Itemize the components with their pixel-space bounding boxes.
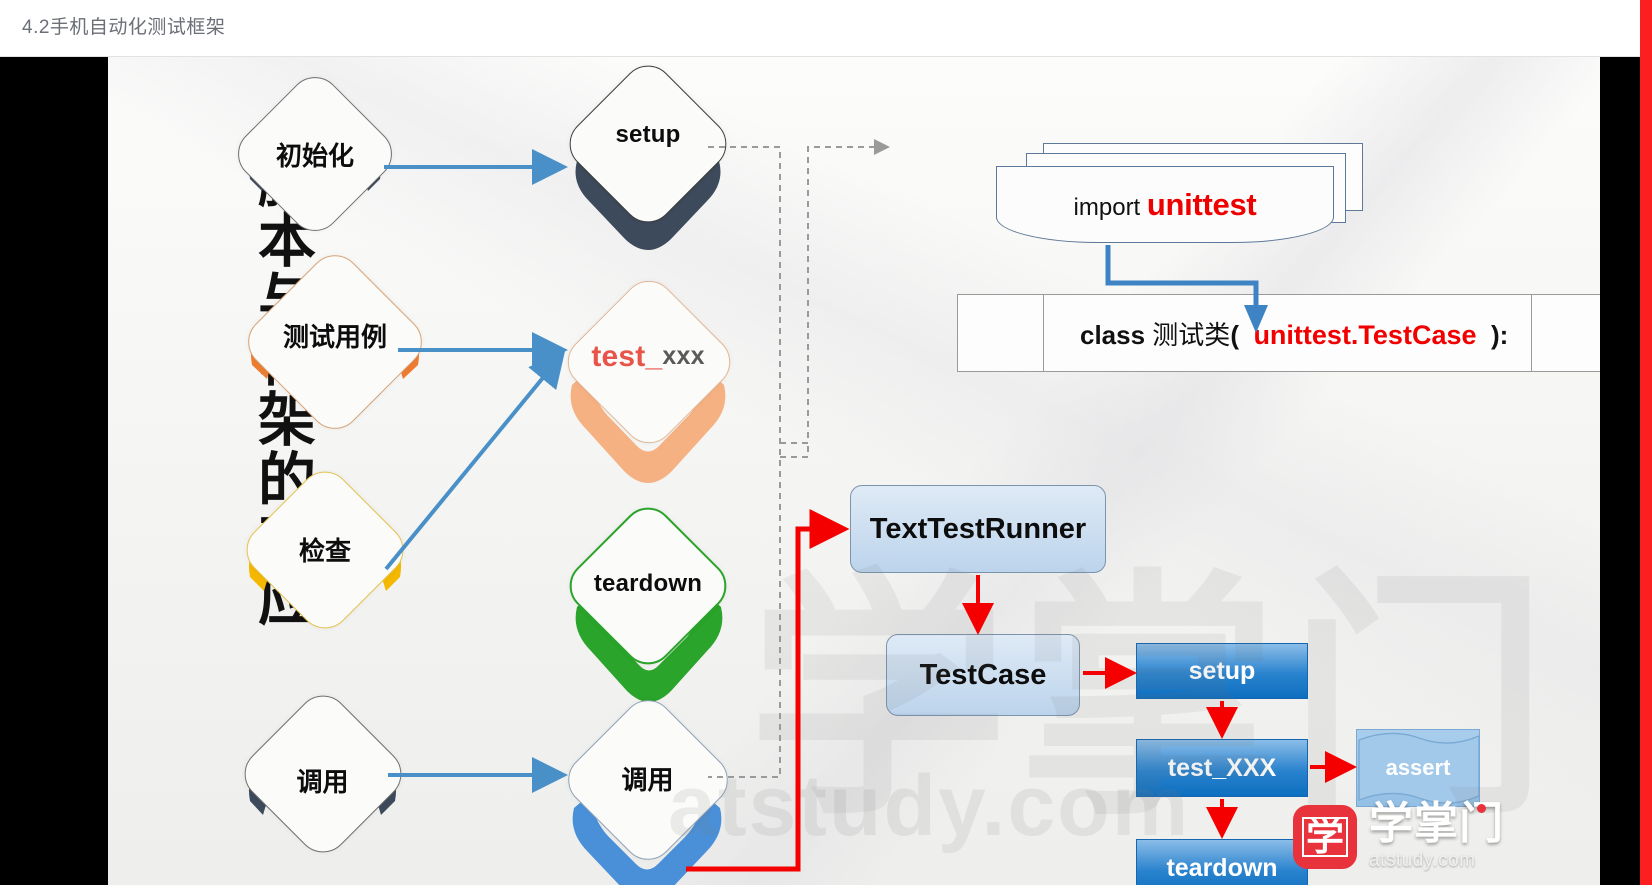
- import-statement-text: import unittest: [1074, 187, 1257, 223]
- node-invoke-mid: 调用: [560, 712, 735, 885]
- class-keyword: class: [1080, 320, 1152, 350]
- dashed-join: [780, 443, 808, 457]
- node-label: 检查: [240, 469, 410, 629]
- brand-logo: 学 学掌门 atstudy.com: [1293, 802, 1504, 872]
- right-scroll-strip[interactable]: [1640, 0, 1652, 885]
- import-keyword: import: [1074, 194, 1141, 221]
- logo-mark-char: 学: [1302, 817, 1348, 857]
- node-invoke-left: 调用: [240, 673, 405, 873]
- node-label: 测试用例: [240, 255, 430, 415]
- node-label: 调用: [560, 712, 735, 885]
- node-teardown: teardown: [563, 519, 733, 719]
- class-paren-close: ):: [1491, 320, 1508, 350]
- logo-name: 学掌门: [1369, 802, 1504, 846]
- screen: 4.2手机自动化测试框架 学掌门 atstudy.com 脚 本 与 框 架 的…: [0, 0, 1652, 885]
- node-test-xxx: test_xxx: [558, 289, 738, 504]
- watermark-url: atstudy.com: [668, 757, 1190, 856]
- class-definition-text: class 测试类( unittest.TestCase ):: [1080, 315, 1508, 352]
- slide-canvas: 学掌门 atstudy.com 脚 本 与 框 架 的 对 应 初始化: [108, 57, 1600, 885]
- page-title: 4.2手机自动化测试框架: [22, 12, 225, 39]
- class-definition-box: class 测试类( unittest.TestCase ):: [957, 294, 1600, 372]
- class-cell-main: class 测试类( unittest.TestCase ):: [1044, 295, 1532, 371]
- page-header: 4.2手机自动化测试框架: [0, 0, 1652, 57]
- node-label: 初始化: [240, 79, 390, 229]
- node-testcase-cn: 测试用例: [240, 255, 430, 415]
- logo-text-group: 学掌门 atstudy.com: [1369, 802, 1504, 872]
- class-paren-open: (: [1230, 320, 1239, 350]
- node-label: setup: [563, 75, 733, 265]
- class-name-cn: 测试类: [1152, 321, 1230, 351]
- node-check: 检查: [240, 469, 410, 629]
- dashed-to-import: [780, 147, 886, 443]
- import-statement-box: import unittest: [996, 166, 1334, 243]
- node-label: teardown: [563, 519, 733, 719]
- node-label-gray: xxx: [662, 342, 704, 371]
- node-setup: setup: [563, 75, 733, 265]
- logo-accent-dot: [1477, 804, 1486, 813]
- box-assert-label: assert: [1386, 755, 1451, 781]
- logo-mark-icon: 学: [1293, 805, 1357, 869]
- class-cell-left: [958, 295, 1044, 371]
- node-label: 调用: [240, 673, 405, 873]
- import-module: unittest: [1147, 187, 1257, 222]
- logo-url: atstudy.com: [1369, 850, 1504, 872]
- node-label: test_xxx: [558, 289, 738, 504]
- video-letterbox: 学掌门 atstudy.com 脚 本 与 框 架 的 对 应 初始化: [0, 57, 1640, 885]
- node-initialize: 初始化: [240, 79, 390, 229]
- class-cell-right: [1532, 295, 1600, 371]
- class-base: unittest.TestCase: [1253, 320, 1476, 350]
- node-label-red: test_: [591, 340, 662, 374]
